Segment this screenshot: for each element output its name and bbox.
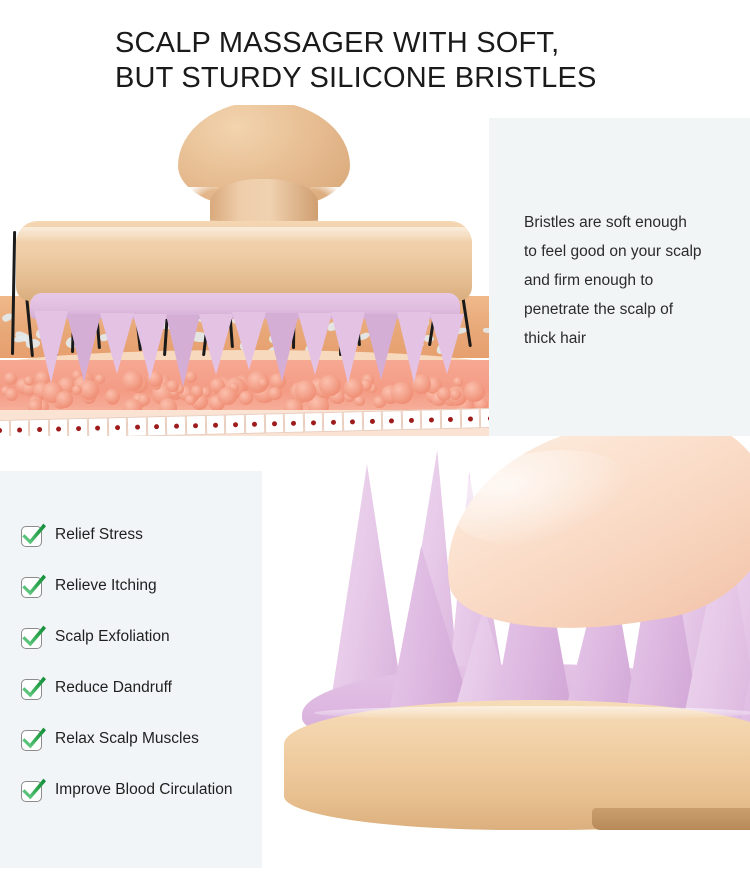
basal-cell: [284, 413, 304, 433]
silicone-bristle: [430, 314, 464, 374]
check-icon: [20, 574, 46, 600]
dermis-cell: [295, 380, 317, 402]
basal-cell: [480, 408, 489, 428]
basal-cell: [402, 410, 422, 430]
basal-cell: [88, 417, 108, 436]
dermis-cell: [4, 372, 17, 385]
benefit-item: Relieve Itching: [20, 573, 262, 624]
dermis-cell: [56, 391, 73, 408]
benefit-item: Reduce Dandruff: [20, 675, 262, 726]
dermis-cell: [72, 385, 82, 395]
silicone-bristle: [364, 314, 398, 380]
benefits-list: Relief StressRelieve ItchingScalp Exfoli…: [20, 522, 262, 828]
dermis-cell: [138, 394, 150, 406]
benefit-item: Scalp Exfoliation: [20, 624, 262, 675]
page-title: SCALP MASSAGER WITH SOFT, BUT STURDY SIL…: [115, 26, 735, 96]
dermis-cell: [185, 395, 196, 406]
basal-cell: [68, 418, 88, 436]
check-icon: [20, 727, 46, 753]
benefit-label: Relax Scalp Muscles: [55, 726, 199, 752]
benefit-label: Relief Stress: [55, 522, 143, 548]
basal-cell: [166, 415, 186, 435]
silicone-bristle: [133, 314, 167, 380]
basal-cell: [0, 420, 10, 436]
basal-cell: [362, 411, 382, 431]
silicone-bristle: [265, 313, 299, 382]
basal-cell: [29, 419, 49, 436]
silicone-bristle: [67, 314, 101, 382]
wooden-base-rim: [592, 808, 750, 830]
basal-cell: [49, 418, 69, 436]
silicone-bristle: [397, 312, 431, 383]
bristle-closeup-illustration: [262, 436, 750, 889]
basal-cell: [225, 414, 245, 434]
basal-cell: [186, 415, 206, 435]
dermis-cell: [450, 389, 461, 400]
dermis-cell: [5, 388, 18, 401]
dermis-cell: [239, 391, 253, 405]
benefit-item: Improve Blood Circulation: [20, 777, 262, 828]
basal-cell: [147, 416, 167, 436]
dermis-cell: [24, 376, 34, 386]
dermis-cell: [218, 387, 237, 406]
basal-cell: [9, 419, 29, 436]
silicone-bristle: [199, 314, 233, 375]
basal-cell: [107, 417, 127, 436]
silicone-bristle: [298, 313, 332, 375]
silicone-bristle: [34, 311, 68, 383]
basal-cell: [205, 414, 225, 434]
silicone-bristle: [166, 315, 200, 387]
benefit-item: Relief Stress: [20, 522, 262, 573]
check-icon: [20, 676, 46, 702]
basal-cell: [441, 409, 461, 429]
basal-cell: [245, 414, 265, 434]
basal-cell: [421, 409, 441, 429]
check-icon: [20, 523, 46, 549]
infographic-canvas: SCALP MASSAGER WITH SOFT, BUT STURDY SIL…: [0, 0, 750, 889]
benefit-label: Scalp Exfoliation: [55, 624, 170, 650]
check-icon: [20, 778, 46, 804]
silicone-bristle: [100, 313, 134, 374]
benefit-label: Improve Blood Circulation: [55, 777, 232, 803]
silicone-bristle: [332, 464, 402, 694]
basal-cell: [460, 408, 480, 428]
benefit-item: Relax Scalp Muscles: [20, 726, 262, 777]
basal-cell: [382, 410, 402, 430]
check-icon: [20, 625, 46, 651]
silicone-bristle: [331, 312, 365, 384]
massager-wood-body: [16, 221, 472, 301]
basal-cell: [343, 411, 363, 431]
silicone-bristle: [232, 312, 266, 370]
basal-cell: [127, 416, 147, 436]
dermis-cell: [391, 382, 412, 403]
basal-cell: [303, 412, 323, 432]
dermis-cell: [464, 381, 485, 402]
basal-cell: [323, 412, 343, 432]
basal-cell: [264, 413, 284, 433]
dermis-cell: [79, 380, 99, 400]
dandruff-flake: [483, 328, 489, 333]
dermis-cell: [268, 387, 281, 400]
benefit-label: Relieve Itching: [55, 573, 157, 599]
benefit-label: Reduce Dandruff: [55, 675, 172, 701]
description-text: Bristles are soft enough to feel good on…: [524, 208, 739, 353]
scalp-cross-section-illustration: [0, 105, 489, 436]
